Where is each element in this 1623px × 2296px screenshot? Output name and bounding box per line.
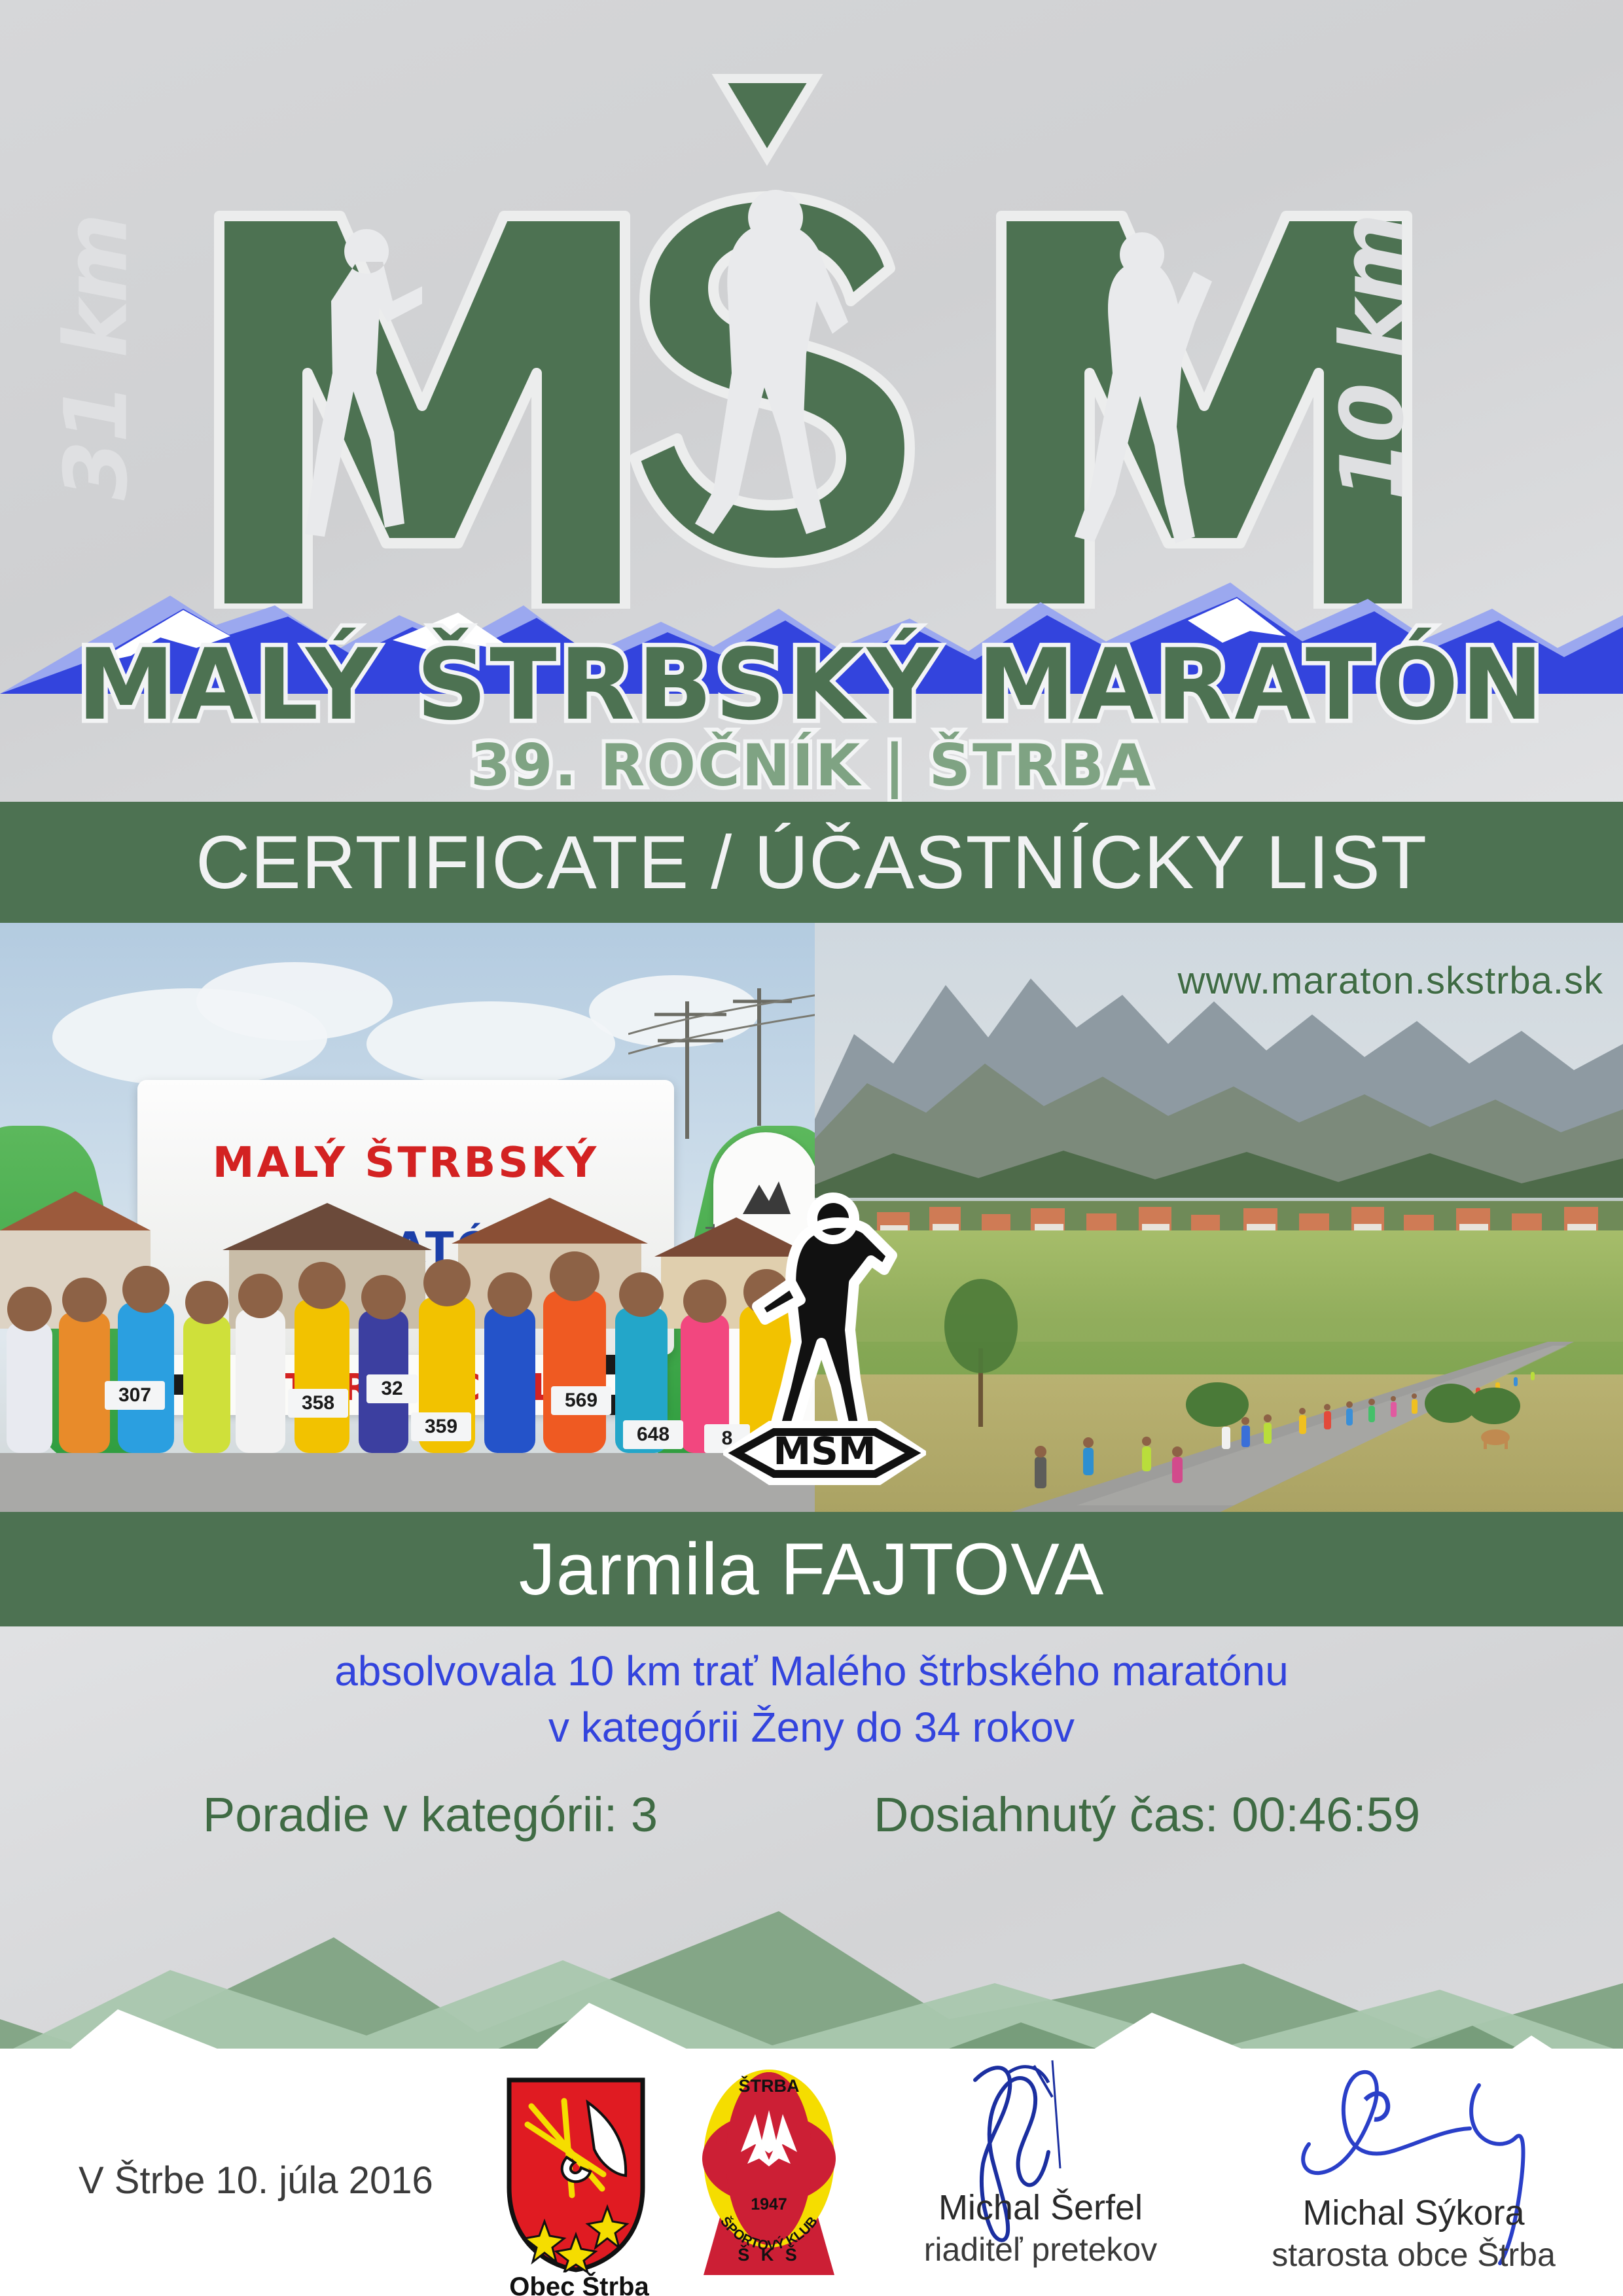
event-title: MALÝ ŠTRBSKÝ MARATÓN	[0, 628, 1623, 742]
bib-number: 648	[623, 1420, 683, 1449]
certificate-title-band: CERTIFICATE / ÚČASTNÍCKY LIST	[0, 802, 1623, 923]
achievement-line-2: v kategórii Ženy do 34 rokov	[0, 1699, 1623, 1755]
signatory-2: Michal Sýkora starosta obce Štrba	[1230, 2191, 1597, 2275]
msm-runner-mascot: MŠM	[723, 1178, 926, 1492]
mascot-label: MŠM	[773, 1428, 876, 1473]
bib-number: 569	[551, 1386, 611, 1415]
signatory-1-name: Michal Šerfel	[857, 2186, 1224, 2229]
finish-time: Dosiahnutý čas: 00:46:59	[874, 1787, 1420, 1842]
achievement-line-1: absolvovala 10 km trať Malého štrbského …	[0, 1643, 1623, 1699]
bib-number: 358	[288, 1389, 348, 1418]
achievement-text: absolvovala 10 km trať Malého štrbského …	[0, 1643, 1623, 1755]
bush-icon	[1181, 1374, 1253, 1427]
signatory-1: Michal Šerfel riaditeľ pretekov	[857, 2186, 1224, 2270]
issue-date: V Štrbe 10. júla 2016	[79, 2159, 433, 2202]
footer: V Štrbe 10. júla 2016 Obec Štrba	[0, 2049, 1623, 2296]
course-landscape-photo: www.maraton.skstrba.sk	[815, 923, 1623, 1512]
distance-right-label: 10 km	[1322, 216, 1423, 501]
signatory-2-name: Michal Sýkora	[1230, 2191, 1597, 2234]
tree-icon	[913, 1263, 1057, 1433]
sks-strba-club-logo: ŠTRBA 1947 Š K Š ŠPORTOVÝ KLUB	[694, 2067, 844, 2276]
event-logo: 31 km 10 km MALÝ ŠTRBSKÝ MARATÓN 39. ROČ…	[0, 26, 1623, 792]
distance-left-label: 31 km	[46, 216, 147, 501]
category-rank: Poradie v kategórii: 3	[203, 1787, 658, 1842]
club-top-label: ŠTRBA	[739, 2075, 800, 2096]
bib-number: 307	[105, 1381, 165, 1410]
certificate-page: 31 km 10 km MALÝ ŠTRBSKÝ MARATÓN 39. ROČ…	[0, 0, 1623, 2296]
website-url: www.maraton.skstrba.sk	[1177, 959, 1603, 1003]
bib-number: 359	[411, 1412, 471, 1441]
bib-number: 32	[366, 1374, 418, 1403]
strba-coat-of-arms	[504, 2076, 648, 2272]
participant-name-band: Jarmila FAJTOVA	[0, 1512, 1623, 1626]
event-subtitle: 39. ROČNÍK | ŠTRBA	[0, 732, 1623, 799]
municipality-label: Obec Štrba	[497, 2272, 661, 2296]
participant-name: Jarmila FAJTOVA	[519, 1527, 1105, 1611]
certificate-title: CERTIFICATE / ÚČASTNÍCKY LIST	[196, 819, 1427, 906]
results-row: Poradie v kategórii: 3 Dosiahnutý čas: 0…	[0, 1787, 1623, 1842]
club-year: 1947	[751, 2195, 787, 2214]
start-line-photo: MALÝ ŠTRBSKÝ MARATÓN ŠTART - CIEĽ TATRY …	[0, 923, 815, 1512]
signatory-1-role: riaditeľ pretekov	[857, 2229, 1224, 2270]
signatory-2-role: starosta obce Štrba	[1230, 2234, 1597, 2275]
bush-icon	[1423, 1373, 1522, 1426]
